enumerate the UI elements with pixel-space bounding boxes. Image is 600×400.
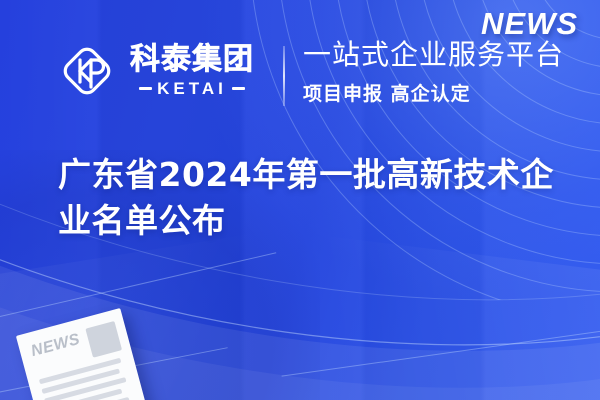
page-title: 广东省2024年第一批高新技术企业名单公布 <box>58 152 568 243</box>
banner-header: 科泰集团 KETAI 一站式企业服务平台 项目申报 高企认定 NEWS <box>0 0 600 132</box>
dash-right-icon <box>232 87 245 90</box>
brand-wordmark: 科泰集团 KETAI <box>130 45 254 97</box>
news-label: NEWS <box>481 6 578 42</box>
dash-left-icon <box>139 87 152 90</box>
slogan-main: 一站式企业服务平台 <box>303 40 564 71</box>
brand-name-cn: 科泰集团 <box>130 45 254 75</box>
news-banner: 科泰集团 KETAI 一站式企业服务平台 项目申报 高企认定 NEWS 广东省2… <box>0 0 600 400</box>
brand-name-en: KETAI <box>157 80 227 97</box>
slogan-block: 一站式企业服务平台 项目申报 高企认定 <box>303 40 564 106</box>
newspaper-thumbnail <box>85 321 122 358</box>
brand-logo[interactable]: 科泰集团 KETAI <box>56 40 254 102</box>
ketai-diamond-monogram-icon <box>56 40 118 102</box>
newspaper-headline: NEWS <box>29 331 82 361</box>
brand-name-en-row: KETAI <box>139 80 245 97</box>
slogan-sub: 项目申报 高企认定 <box>303 79 564 106</box>
header-divider <box>283 46 285 106</box>
